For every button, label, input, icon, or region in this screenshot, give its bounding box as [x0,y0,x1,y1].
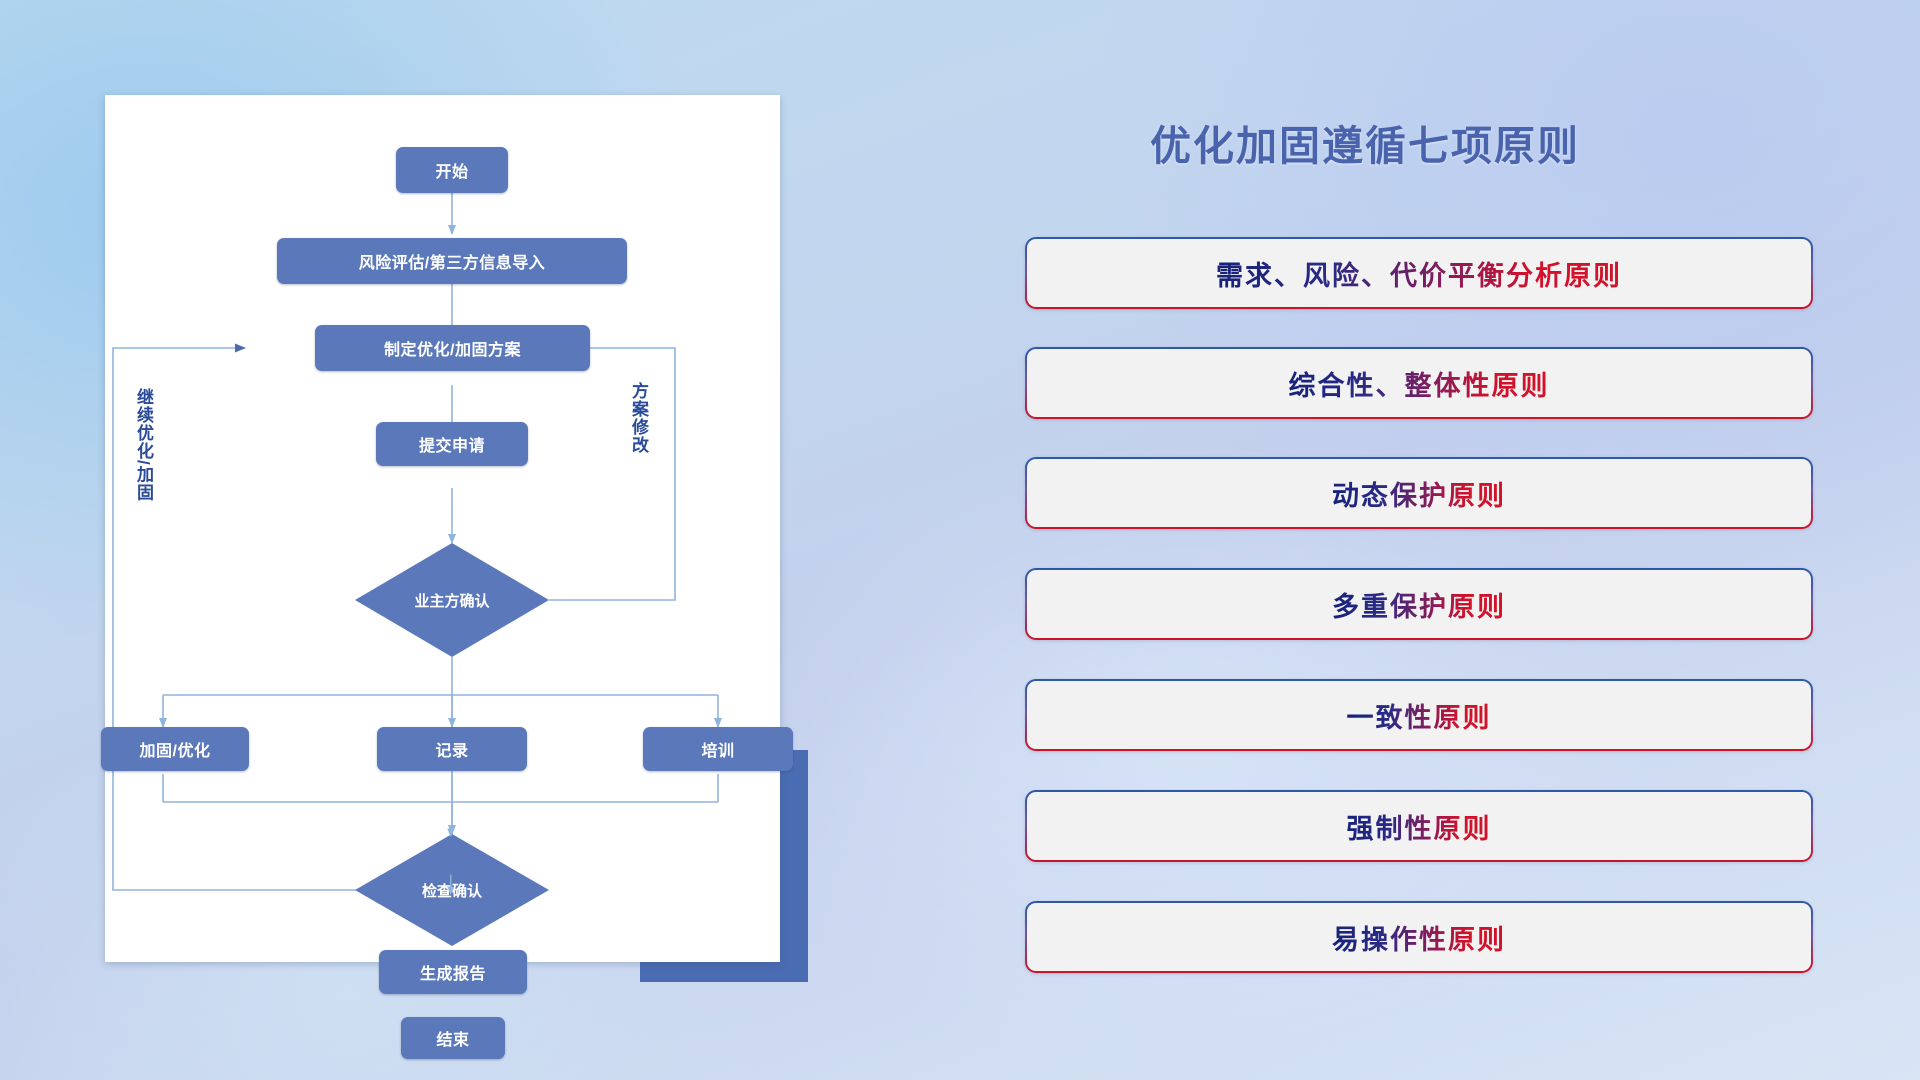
principle-card-inner: 动态保护原则 [1027,459,1811,527]
edge-label-left-loop: 继续优化/加固 [131,388,156,502]
principle-card-inner: 一致性原则 [1027,681,1811,749]
principle-card-3[interactable]: 动态保护原则 [1025,457,1813,529]
flow-node-reinforce-label: 加固/优化 [140,737,211,761]
principle-card-inner: 易操作性原则 [1027,903,1811,971]
principle-label-1: 需求、风险、代价平衡分析原则 [1216,254,1622,293]
principle-card-1[interactable]: 需求、风险、代价平衡分析原则 [1025,237,1813,309]
flow-node-risk-assessment-label: 风险评估/第三方信息导入 [359,249,545,273]
flow-node-report[interactable]: 生成报告 [379,950,527,994]
principle-label-3: 动态保护原则 [1332,474,1506,513]
flow-node-start[interactable]: 开始 [396,147,508,193]
flow-node-record[interactable]: 记录 [377,727,527,771]
principle-card-inner: 需求、风险、代价平衡分析原则 [1027,239,1811,307]
flow-node-start-label: 开始 [435,158,468,182]
principle-card-2[interactable]: 综合性、整体性原则 [1025,347,1813,419]
flowchart-card: 开始 风险评估/第三方信息导入 制定优化/加固方案 提交申请 业主方确认 加固/… [105,95,780,962]
flow-node-plan[interactable]: 制定优化/加固方案 [315,325,590,371]
principle-label-5: 一致性原则 [1347,696,1492,735]
page-title: 优化加固遵循七项原则 [1150,112,1580,172]
flow-node-check-confirm-label: 检查确认 [355,834,549,946]
flow-node-end[interactable]: 结束 [401,1017,505,1059]
flow-node-check-confirm[interactable]: 检查确认 [355,834,549,946]
flow-node-owner-confirm-label: 业主方确认 [355,543,549,657]
principle-card-inner: 多重保护原则 [1027,570,1811,638]
principle-card-5[interactable]: 一致性原则 [1025,679,1813,751]
flow-node-plan-label: 制定优化/加固方案 [384,336,521,360]
flow-node-end-label: 结束 [436,1026,469,1050]
flowchart-connectors-check-report [105,95,780,962]
flow-node-submit-label: 提交申请 [419,432,485,456]
flow-node-owner-confirm[interactable]: 业主方确认 [355,543,549,657]
principle-label-6: 强制性原则 [1347,807,1492,846]
principle-label-2: 综合性、整体性原则 [1289,364,1550,403]
flow-node-training[interactable]: 培训 [643,727,793,771]
principle-card-inner: 综合性、整体性原则 [1027,349,1811,417]
principle-label-7: 易操作性原则 [1332,918,1506,957]
flow-node-submit[interactable]: 提交申请 [376,422,528,466]
flow-node-reinforce[interactable]: 加固/优化 [101,727,249,771]
flow-node-risk-assessment[interactable]: 风险评估/第三方信息导入 [277,238,627,284]
principle-card-6[interactable]: 强制性原则 [1025,790,1813,862]
principle-card-7[interactable]: 易操作性原则 [1025,901,1813,973]
principle-card-4[interactable]: 多重保护原则 [1025,568,1813,640]
accent-bar-vertical [780,750,808,982]
flow-node-training-label: 培训 [701,737,734,761]
principle-label-4: 多重保护原则 [1332,585,1506,624]
principle-card-inner: 强制性原则 [1027,792,1811,860]
flow-node-report-label: 生成报告 [420,960,486,984]
edge-label-right-loop: 方案修改 [626,382,651,454]
flow-node-record-label: 记录 [435,737,468,761]
